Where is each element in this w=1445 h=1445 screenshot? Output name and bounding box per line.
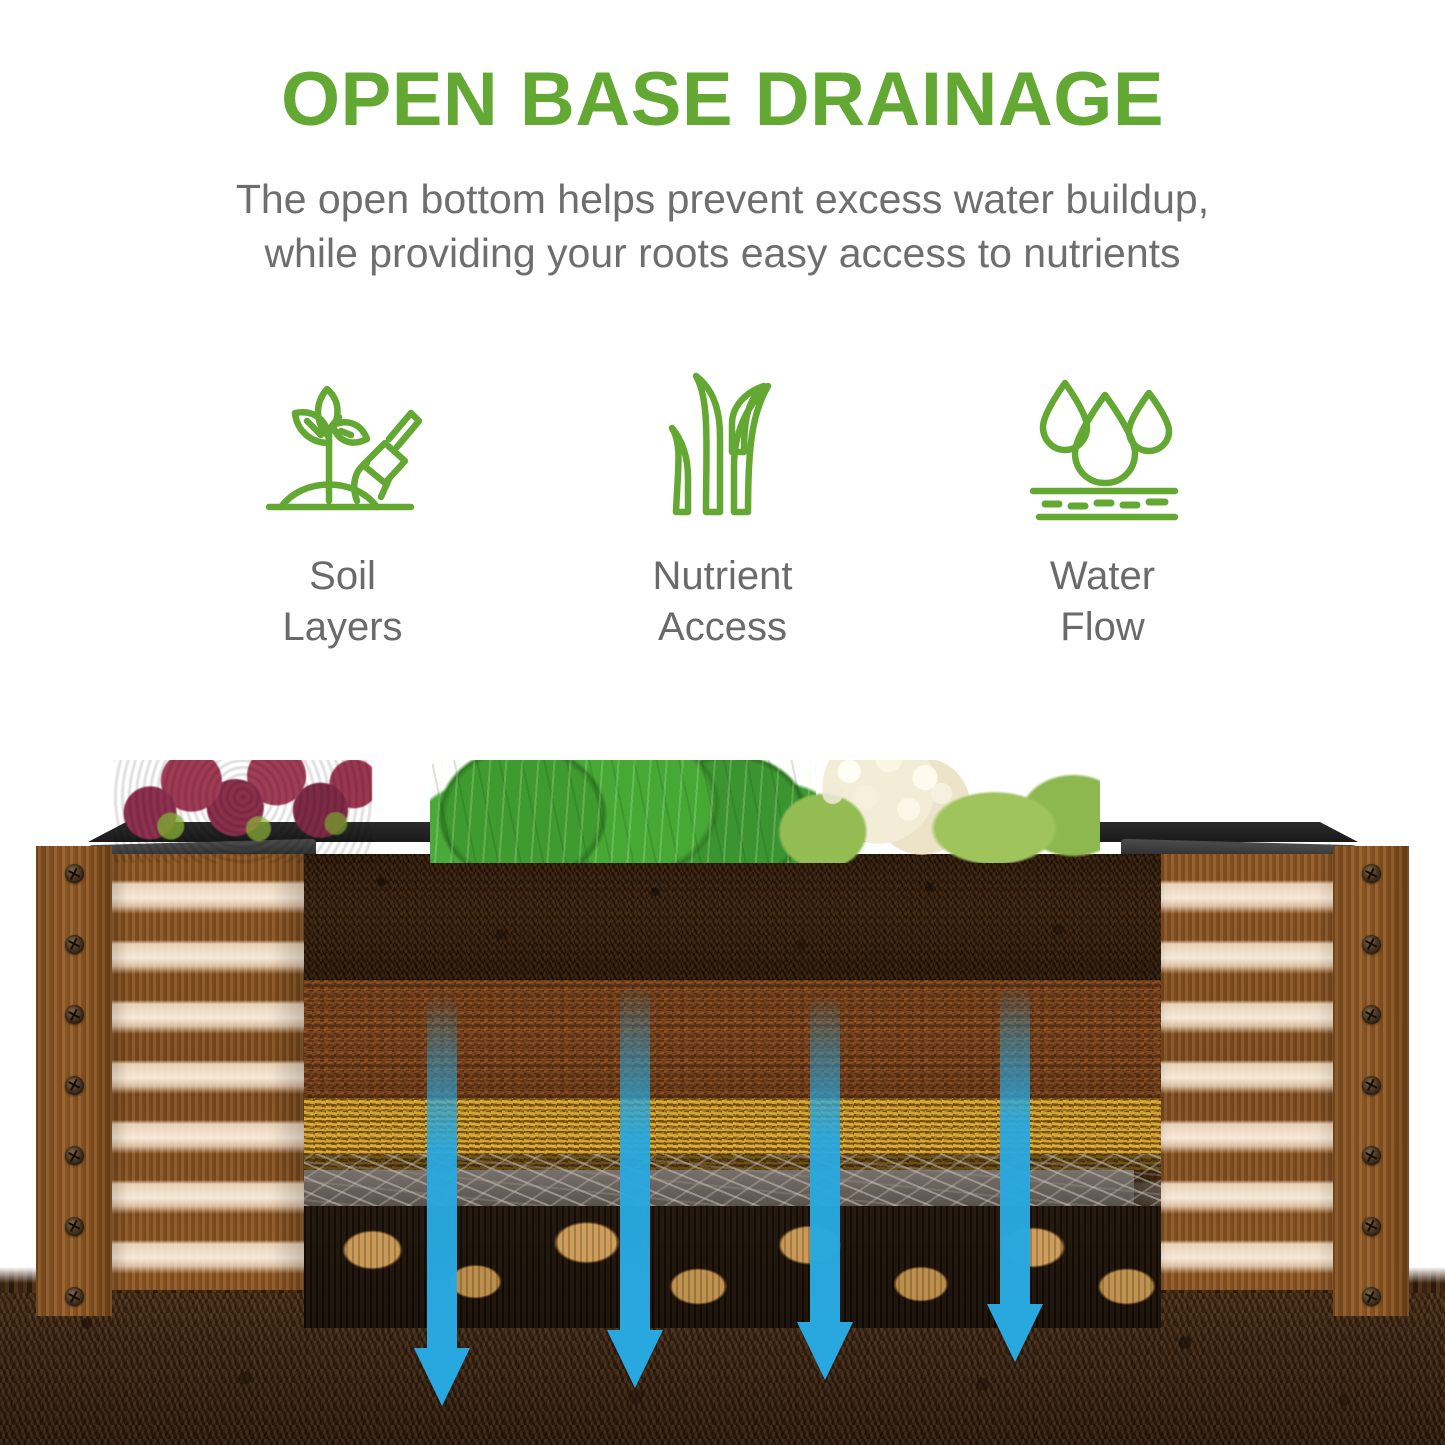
arrow-shaft xyxy=(620,984,650,1332)
screw-icon xyxy=(1362,1287,1381,1306)
feature-label-line-2: Layers xyxy=(282,602,402,653)
screw-icon xyxy=(1362,1217,1381,1236)
arrow-head xyxy=(607,1330,663,1388)
arrow-head xyxy=(797,1322,853,1380)
screw-icon xyxy=(1362,1146,1381,1165)
feature-label-water-flow: Water Flow xyxy=(1050,551,1155,653)
corrugated-wall-left xyxy=(95,854,304,1290)
plant-green-cabbage xyxy=(430,760,816,863)
water-flow-arrow xyxy=(995,984,1035,1306)
feature-label-soil-layers: Soil Layers xyxy=(282,551,402,653)
screw-icon xyxy=(1362,1076,1381,1095)
screw-icon xyxy=(65,1076,84,1095)
feature-nutrient-access: Nutrient Access xyxy=(533,360,913,653)
water-flow-arrow xyxy=(422,994,462,1350)
feature-label-nutrient-access: Nutrient Access xyxy=(652,551,792,653)
corrugated-wall-right xyxy=(1134,854,1350,1290)
feature-label-line-2: Flow xyxy=(1050,602,1155,653)
grass-blades-icon xyxy=(648,360,798,535)
feature-label-line-1: Nutrient xyxy=(652,551,792,602)
plant-trowel-icon xyxy=(259,360,427,535)
feature-water-flow: Water Flow xyxy=(913,360,1293,653)
feature-soil-layers: Soil Layers xyxy=(153,360,533,653)
feature-label-line-1: Water xyxy=(1050,551,1155,602)
arrow-head xyxy=(414,1348,470,1406)
screw-icon xyxy=(65,864,84,883)
vegetable-row xyxy=(304,760,1161,859)
arrow-shaft xyxy=(1000,984,1030,1306)
arrow-shaft xyxy=(810,994,840,1324)
screw-column xyxy=(64,864,84,1306)
screw-icon xyxy=(65,1146,84,1165)
subtitle-line-1: The open bottom helps prevent excess wat… xyxy=(0,172,1445,226)
screw-icon xyxy=(1362,1005,1381,1024)
screw-icon xyxy=(65,935,84,954)
arrow-shaft xyxy=(427,994,457,1350)
plant-cauliflower xyxy=(770,760,1100,863)
plant-red-leaf-lettuce xyxy=(114,760,372,863)
water-flow-arrow xyxy=(805,994,845,1324)
subtitle-line-2: while providing your roots easy access t… xyxy=(0,226,1445,280)
screw-icon xyxy=(65,1005,84,1024)
water-flow-arrow xyxy=(615,984,655,1332)
garden-bed xyxy=(18,798,1427,1290)
page-subtitle: The open bottom helps prevent excess wat… xyxy=(0,172,1445,280)
screw-icon xyxy=(1362,864,1381,883)
soil-layer-topsoil-compost xyxy=(304,854,1161,980)
screw-column xyxy=(1361,864,1381,1306)
screw-icon xyxy=(1362,935,1381,954)
water-droplets-icon xyxy=(1023,360,1183,535)
corner-post-right xyxy=(1333,846,1409,1316)
raised-garden-bed-cross-section xyxy=(0,760,1445,1445)
screw-icon xyxy=(65,1217,84,1236)
feature-label-line-2: Access xyxy=(652,602,792,653)
feature-label-line-1: Soil xyxy=(282,551,402,602)
screw-icon xyxy=(65,1287,84,1306)
infographic-page: OPEN BASE DRAINAGE The open bottom helps… xyxy=(0,0,1445,1445)
feature-row: Soil Layers Nutrient Access xyxy=(0,360,1445,650)
corner-post-left xyxy=(36,846,112,1316)
page-title: OPEN BASE DRAINAGE xyxy=(0,62,1445,138)
arrow-head xyxy=(987,1304,1043,1362)
